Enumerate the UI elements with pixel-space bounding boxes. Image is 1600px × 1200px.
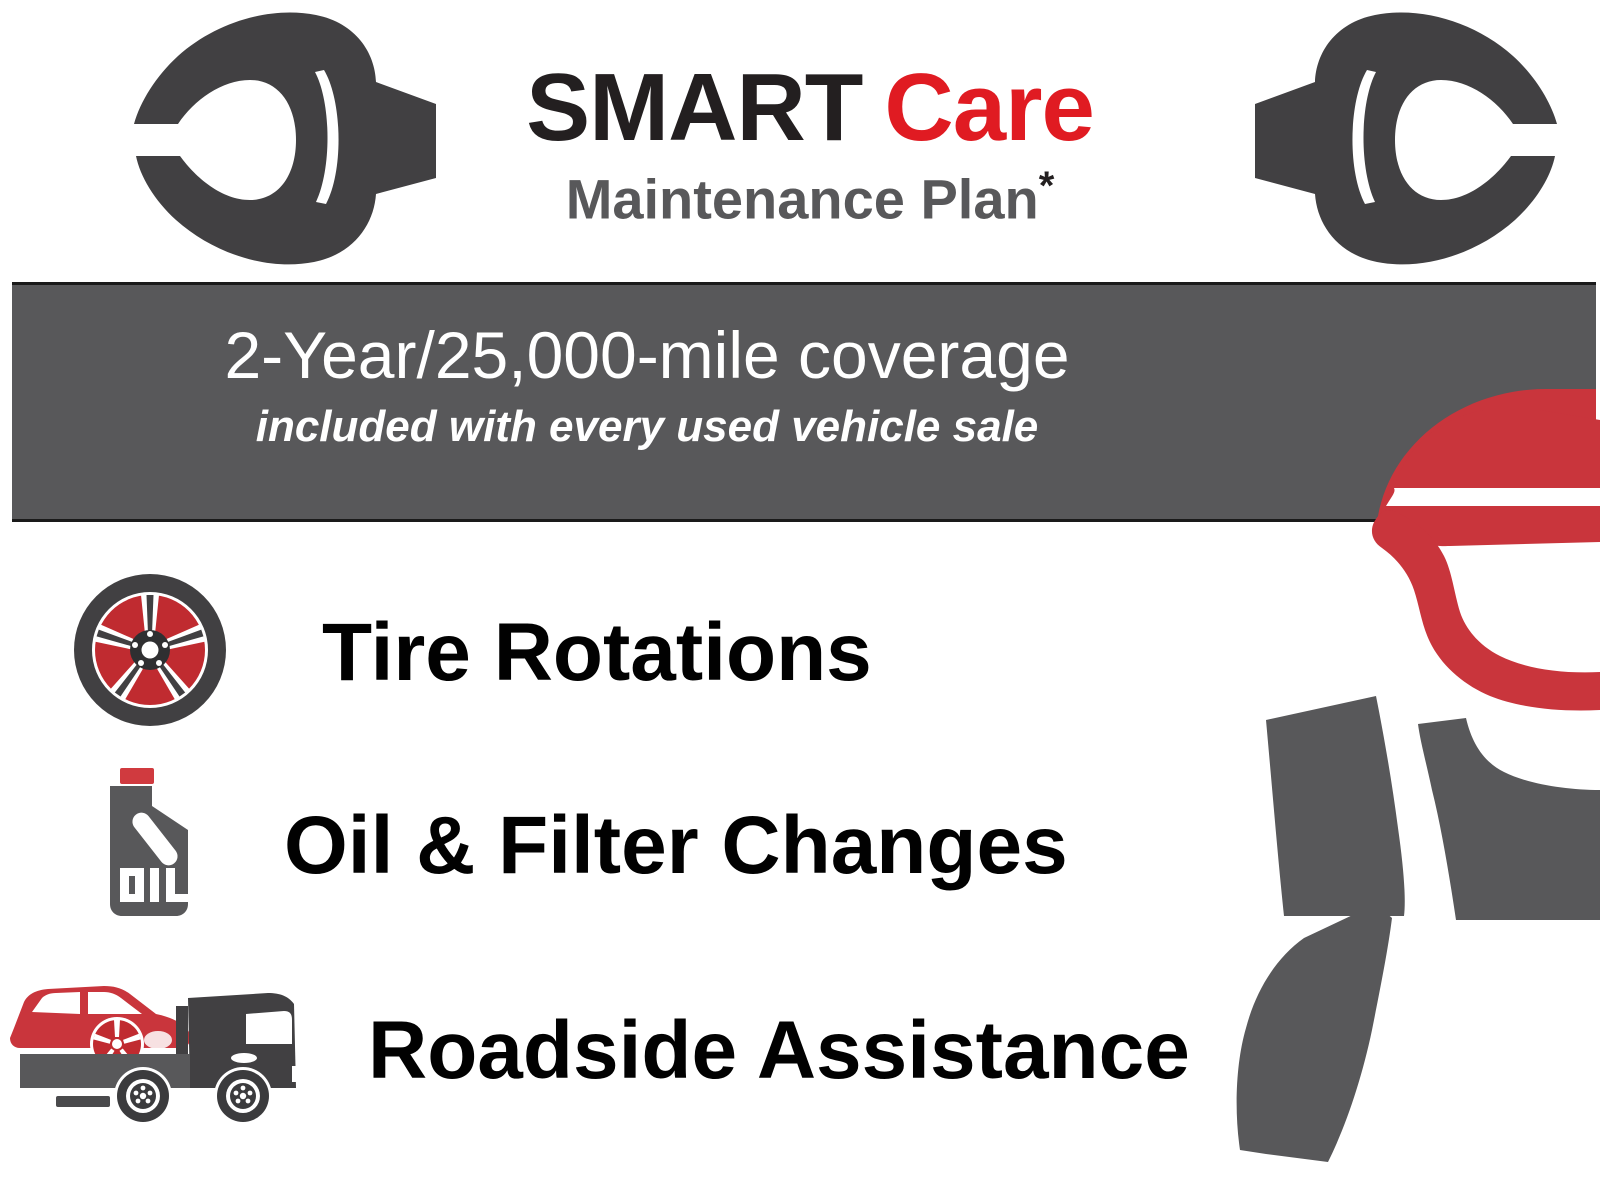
feature-item-tire-rotations: Tire Rotations (72, 572, 872, 733)
brand-name-secondary: Care (884, 54, 1093, 161)
mechanic-overalls (1237, 696, 1600, 1162)
brand-name-primary: SMART (526, 54, 862, 161)
feature-item-oil-filter-changes: Oil & Filter Changes (88, 768, 1068, 923)
smart-care-promo-poster: SMARTCare Maintenance Plan* 2-Year/25,00… (0, 0, 1600, 1200)
feature-label-tire-rotations: Tire Rotations (322, 612, 872, 694)
feature-item-roadside-assistance: Roadside Assistance (6, 968, 1190, 1133)
coverage-banner: 2-Year/25,000-mile coverage included wit… (12, 282, 1596, 522)
brand-subtitle-text: Maintenance Plan (566, 168, 1039, 231)
brand-subtitle: Maintenance Plan* (400, 166, 1220, 228)
oil-bottle-icon (88, 768, 204, 923)
brand-subtitle-asterisk: * (1039, 164, 1055, 208)
mechanic-cap-overlap (1376, 389, 1596, 522)
wrench-right-icon (1243, 8, 1573, 266)
tow-truck-icon (6, 968, 326, 1133)
feature-label-oil-filter-changes: Oil & Filter Changes (284, 805, 1068, 887)
feature-label-roadside-assistance: Roadside Assistance (368, 1010, 1190, 1092)
brand-name: SMARTCare (400, 60, 1220, 156)
mechanic-face-profile (1372, 510, 1600, 710)
coverage-headline: 2-Year/25,000-mile coverage (12, 321, 1282, 390)
coverage-banner-text: 2-Year/25,000-mile coverage included wit… (12, 285, 1282, 450)
tire-icon (72, 572, 228, 733)
mechanic-illustration (1180, 410, 1600, 1200)
wrench-left-icon (118, 8, 438, 266)
coverage-subhead: included with every used vehicle sale (12, 404, 1282, 450)
header: SMARTCare Maintenance Plan* (0, 0, 1600, 272)
brand-logo: SMARTCare Maintenance Plan* (400, 60, 1220, 228)
